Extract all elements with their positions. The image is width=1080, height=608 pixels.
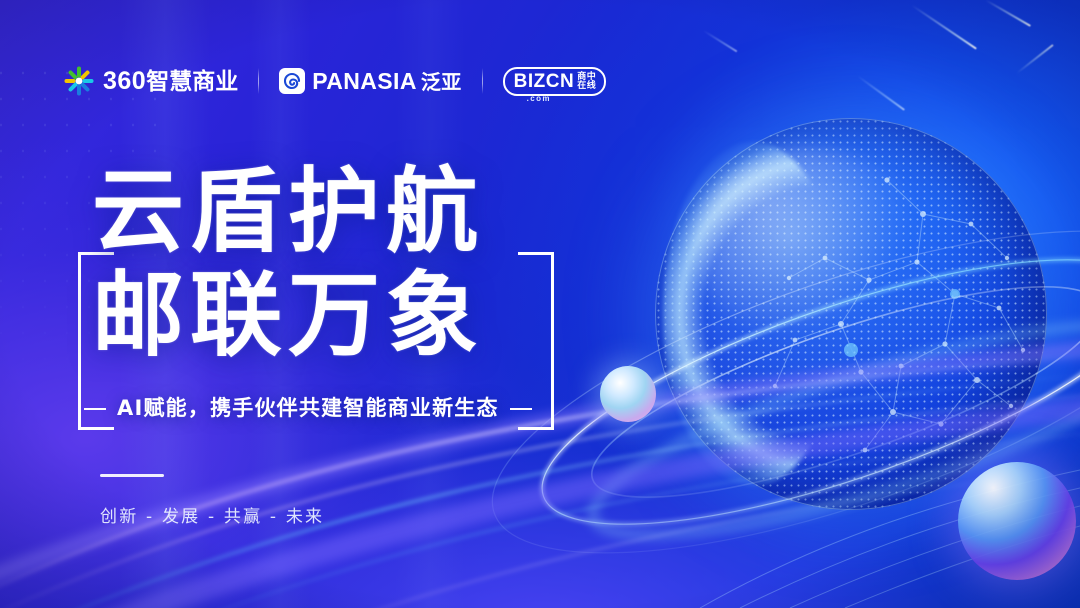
subtitle-row: AI赋能，携手伙伴共建智能商业新生态 — [84, 398, 566, 419]
promo-banner: 360智慧商业 PANASIA泛亚 BIZCN 商中 在线 .com — [0, 0, 1080, 608]
logo-360[interactable]: 360智慧商业 — [64, 66, 238, 96]
bizcn-word: BIZCN — [514, 72, 575, 91]
headline-block: 云盾护航 邮联万象 — [92, 160, 562, 368]
subtitle-text: AI赋能，携手伙伴共建智能商业新生态 — [117, 398, 499, 419]
logo-360-label: 360智慧商业 — [103, 69, 238, 94]
globe-network-lines — [655, 118, 1047, 510]
tagline-rule — [100, 474, 164, 477]
logo-divider — [258, 68, 259, 94]
light-streak — [1016, 44, 1053, 74]
globe-crescent-highlight — [663, 142, 843, 487]
panasia-spiral-icon — [279, 68, 305, 94]
logo-panasia[interactable]: PANASIA泛亚 — [279, 68, 461, 94]
tagline-text: 创新 - 发展 - 共赢 - 未来 — [100, 502, 324, 527]
light-streak — [985, 0, 1031, 27]
light-streak — [703, 30, 738, 53]
logo-divider — [482, 68, 483, 94]
light-streak — [857, 75, 905, 111]
bizcn-domain-label: .com — [527, 94, 551, 103]
bizcn-badge-icon: BIZCN 商中 在线 .com — [503, 67, 607, 96]
bizcn-cn-label: 商中 在线 — [577, 72, 596, 91]
360-flower-icon — [64, 66, 94, 96]
subtitle-dash-left — [84, 408, 106, 410]
globe-body — [655, 118, 1047, 510]
globe-dot-mesh — [655, 118, 1047, 510]
logo-bizcn[interactable]: BIZCN 商中 在线 .com — [503, 67, 607, 96]
subtitle-dash-right — [510, 408, 532, 410]
gradient-sphere-small — [600, 366, 656, 422]
gradient-sphere-large — [958, 462, 1076, 580]
globe-specular-highlight — [694, 149, 929, 345]
partner-logo-bar: 360智慧商业 PANASIA泛亚 BIZCN 商中 在线 .com — [64, 58, 606, 104]
light-streak — [911, 4, 977, 49]
headline-line-1: 云盾护航 — [92, 160, 562, 264]
globe-rim — [655, 118, 1047, 510]
headline-line-2: 邮联万象 — [92, 264, 562, 368]
network-globe-graphic — [655, 118, 1047, 510]
logo-panasia-label: PANASIA泛亚 — [312, 70, 461, 93]
